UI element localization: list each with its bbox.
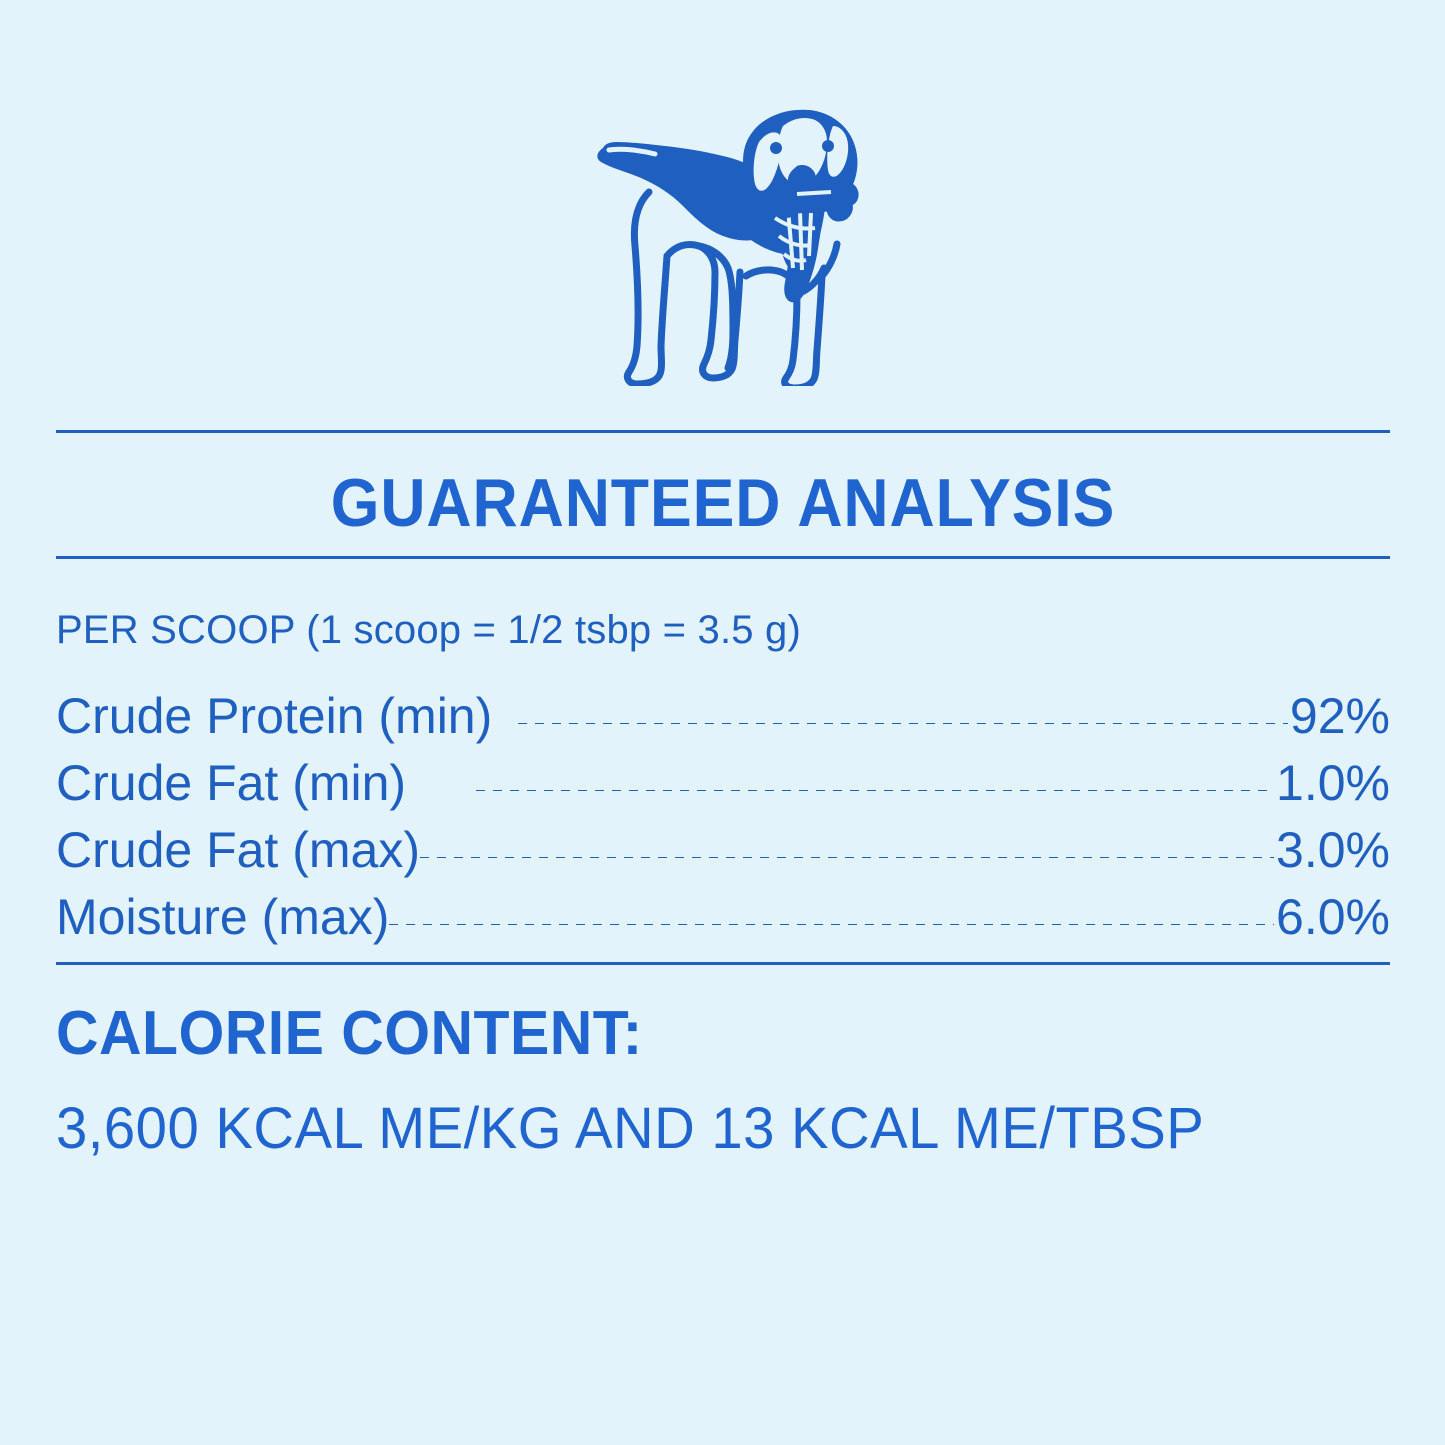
nutrient-value: 6.0% — [1276, 884, 1390, 951]
divider-bottom — [56, 962, 1390, 965]
nutrition-table: Crude Protein (min) 92% Crude Fat (min) … — [56, 683, 1390, 951]
leader-dots — [389, 924, 1274, 925]
table-row: Crude Protein (min) 92% — [56, 683, 1390, 750]
table-row: Moisture (max) 6.0% — [56, 884, 1390, 951]
divider-mid — [56, 556, 1390, 559]
table-row: Crude Fat (max) 3.0% — [56, 817, 1390, 884]
nutrient-value: 3.0% — [1276, 817, 1390, 884]
leader-dots — [476, 790, 1274, 791]
serving-size-note: PER SCOOP (1 scoop = 1/2 tsbp = 3.5 g) — [56, 604, 801, 656]
nutrient-label: Crude Fat (min) — [56, 750, 406, 817]
table-row: Crude Fat (min) 1.0% — [56, 750, 1390, 817]
divider-top — [56, 430, 1390, 433]
nutrient-value: 92% — [1290, 683, 1390, 750]
nutrient-label: Moisture (max) — [56, 884, 389, 951]
dog-eye-left-icon — [770, 142, 782, 154]
dog-with-bone-logo-icon — [583, 96, 863, 386]
dog-eye-right-icon — [822, 140, 834, 152]
leader-dots — [420, 857, 1274, 858]
brand-logo — [0, 96, 1445, 386]
guaranteed-analysis-panel: GUARANTEED ANALYSIS PER SCOOP (1 scoop =… — [0, 0, 1445, 1445]
nutrient-label: Crude Fat (max) — [56, 817, 420, 884]
calorie-content-title: CALORIE CONTENT: — [56, 996, 643, 1072]
calorie-content-value: 3,600 KCAL ME/KG AND 13 KCAL ME/TBSP — [56, 1092, 1204, 1166]
leader-dots — [518, 723, 1288, 724]
nutrient-value: 1.0% — [1276, 750, 1390, 817]
nutrient-label: Crude Protein (min) — [56, 683, 492, 750]
page-title: GUARANTEED ANALYSIS — [109, 455, 1336, 551]
